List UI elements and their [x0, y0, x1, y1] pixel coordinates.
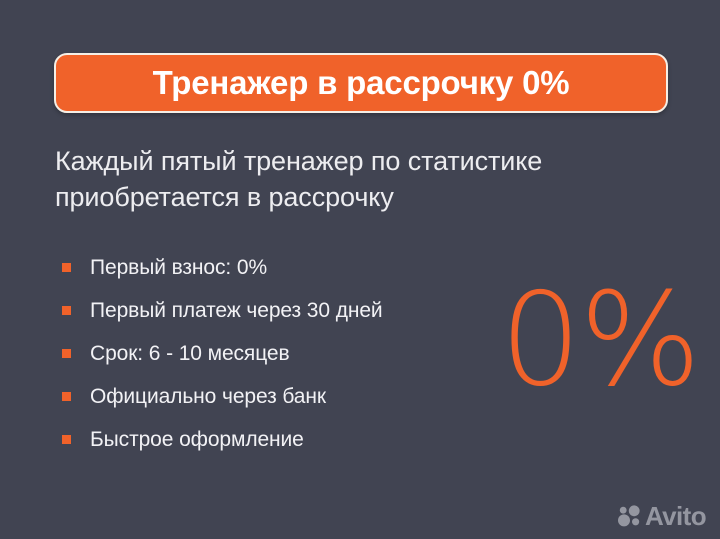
- square-bullet-icon: [62, 263, 71, 272]
- promo-slide: Тренажер в рассрочку 0% Каждый пятый тре…: [0, 0, 720, 539]
- square-bullet-icon: [62, 435, 71, 444]
- square-bullet-icon: [62, 392, 71, 401]
- square-bullet-icon: [62, 349, 71, 358]
- list-item: Первый платеж через 30 дней: [62, 289, 502, 332]
- list-item-label: Первый платеж через 30 дней: [90, 300, 383, 321]
- title-banner-text: Тренажер в рассрочку 0%: [153, 66, 570, 101]
- subtitle: Каждый пятый тренажер по статистике прио…: [55, 144, 680, 215]
- avito-dots-icon: [616, 505, 642, 527]
- list-item-label: Быстрое оформление: [90, 429, 304, 450]
- list-item: Срок: 6 - 10 месяцев: [62, 332, 502, 375]
- square-bullet-icon: [62, 306, 71, 315]
- list-item: Первый взнос: 0%: [62, 246, 502, 289]
- features-list: Первый взнос: 0% Первый платеж через 30 …: [62, 246, 502, 461]
- avito-watermark: Avito: [616, 505, 706, 527]
- list-item-label: Срок: 6 - 10 месяцев: [90, 343, 290, 364]
- list-item: Официально через банк: [62, 375, 502, 418]
- avito-wordmark: Avito: [645, 505, 706, 527]
- subtitle-line-2: приобретается в рассрочку: [55, 180, 680, 216]
- list-item-label: Первый взнос: 0%: [90, 257, 267, 278]
- list-item-label: Официально через банк: [90, 386, 326, 407]
- list-item: Быстрое оформление: [62, 418, 502, 461]
- zero-percent-highlight: 0%: [500, 283, 680, 398]
- title-banner: Тренажер в рассрочку 0%: [54, 53, 668, 113]
- subtitle-line-1: Каждый пятый тренажер по статистике: [55, 144, 680, 180]
